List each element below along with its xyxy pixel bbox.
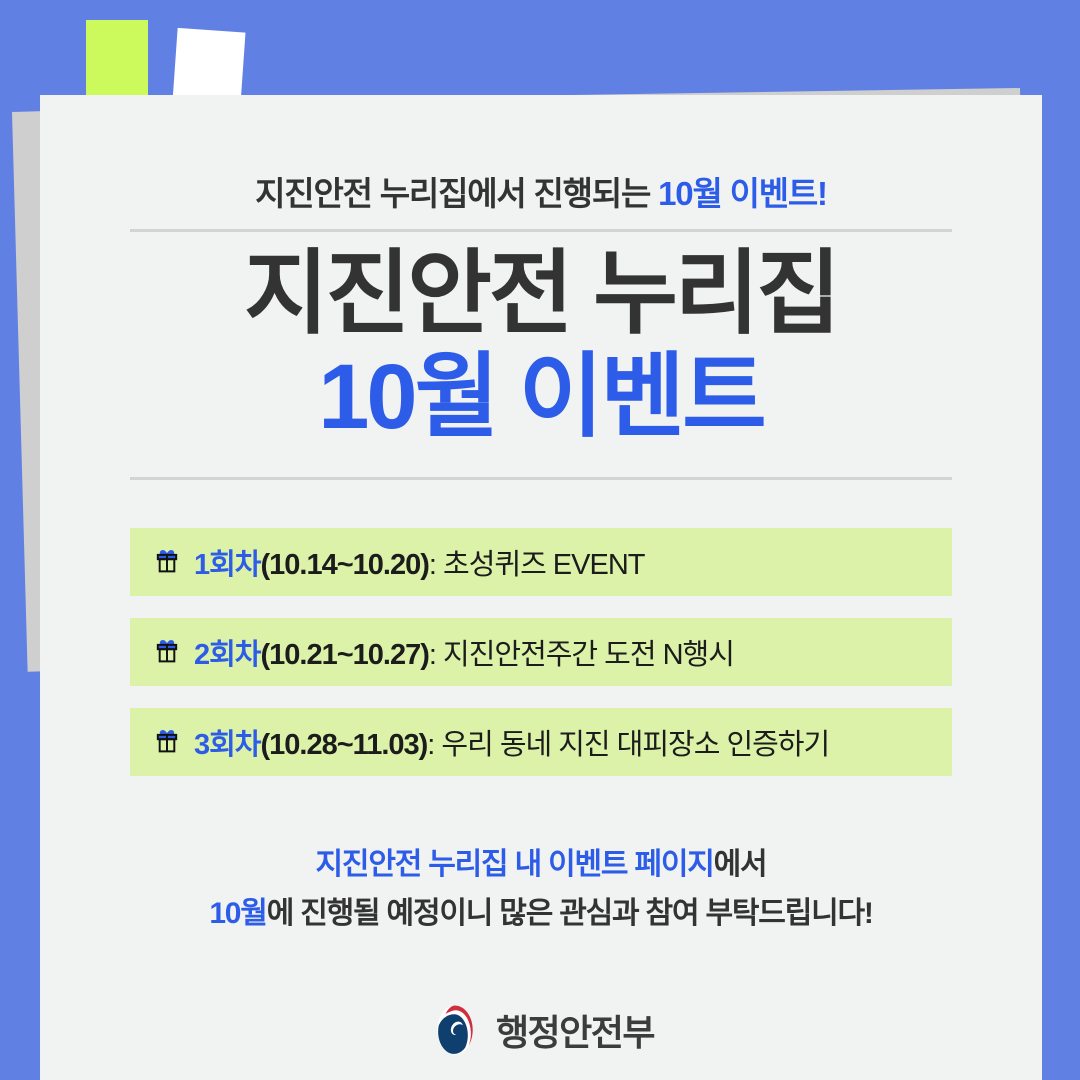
footer-line-2-accent: 10월 [209,897,266,930]
footer-line-1-rest: 에서 [714,848,767,881]
subtitle: 지진안전 누리집에서 진행되는 10월 이벤트! [40,167,1042,215]
ministry-logo-label: 행정안전부 [496,1004,654,1056]
gift-icon [152,727,182,757]
event-description-3: 우리 동네 지진 대피장소 인증하기 [441,729,829,761]
sticky-note-tab [86,20,148,106]
event-text-3: 3회차(10.28~11.03): 우리 동네 지진 대피장소 인증하기 [194,721,829,763]
footer-note: 지진안전 누리집 내 이벤트 페이지에서 10월에 진행될 예정이니 많은 관심… [40,841,1042,938]
gift-icon [152,637,182,667]
event-separator-1: : [429,549,443,581]
event-chip-2: 2회차(10.21~10.27): 지진안전주간 도전 N행시 [130,618,952,686]
title-line-1: 지진안전 누리집 [40,243,1042,346]
event-round-3: 3회차 [194,729,261,761]
event-description-1: 초성퀴즈 EVENT [443,549,644,581]
main-card: 지진안전 누리집에서 진행되는 10월 이벤트! 지진안전 누리집 10월 이벤… [40,95,1042,1080]
event-round-2: 2회차 [194,639,261,671]
event-text-1: 1회차(10.14~10.20): 초성퀴즈 EVENT [194,541,645,583]
gift-icon [152,547,182,577]
taegeuk-emblem-icon [428,1003,482,1057]
event-separator-3: : [427,729,441,761]
title-block: 지진안전 누리집 10월 이벤트 [40,243,1042,449]
event-period-3: (10.28~11.03) [261,729,428,761]
event-period-2: (10.21~10.27) [261,639,429,671]
divider-bottom [130,477,952,480]
event-chip-3: 3회차(10.28~11.03): 우리 동네 지진 대피장소 인증하기 [130,708,952,776]
footer-line-2: 10월에 진행될 예정이니 많은 관심과 참여 부탁드립니다! [40,890,1042,939]
event-chip-1: 1회차(10.14~10.20): 초성퀴즈 EVENT [130,528,952,596]
event-text-2: 2회차(10.21~10.27): 지진안전주간 도전 N행시 [194,631,734,673]
subtitle-lead: 지진안전 누리집에서 진행되는 [255,175,658,212]
subtitle-accent: 10월 이벤트! [658,175,827,212]
divider-top [130,229,952,232]
event-list: 1회차(10.14~10.20): 초성퀴즈 EVENT 2회차(10.21~1… [130,528,952,798]
poster-canvas: 지진안전 누리집에서 진행되는 10월 이벤트! 지진안전 누리집 10월 이벤… [0,0,1080,1080]
event-separator-2: : [429,639,443,671]
event-round-1: 1회차 [194,549,261,581]
event-description-2: 지진안전주간 도전 N행시 [443,639,734,671]
footer-line-1: 지진안전 누리집 내 이벤트 페이지에서 [40,841,1042,890]
event-period-1: (10.14~10.20) [261,549,429,581]
title-line-2: 10월 이벤트 [40,346,1042,449]
footer-line-1-accent: 지진안전 누리집 내 이벤트 페이지 [316,848,714,881]
footer-line-2-rest: 에 진행될 예정이니 많은 관심과 참여 부탁드립니다! [267,897,873,930]
ministry-logo: 행정안전부 [40,1003,1042,1057]
